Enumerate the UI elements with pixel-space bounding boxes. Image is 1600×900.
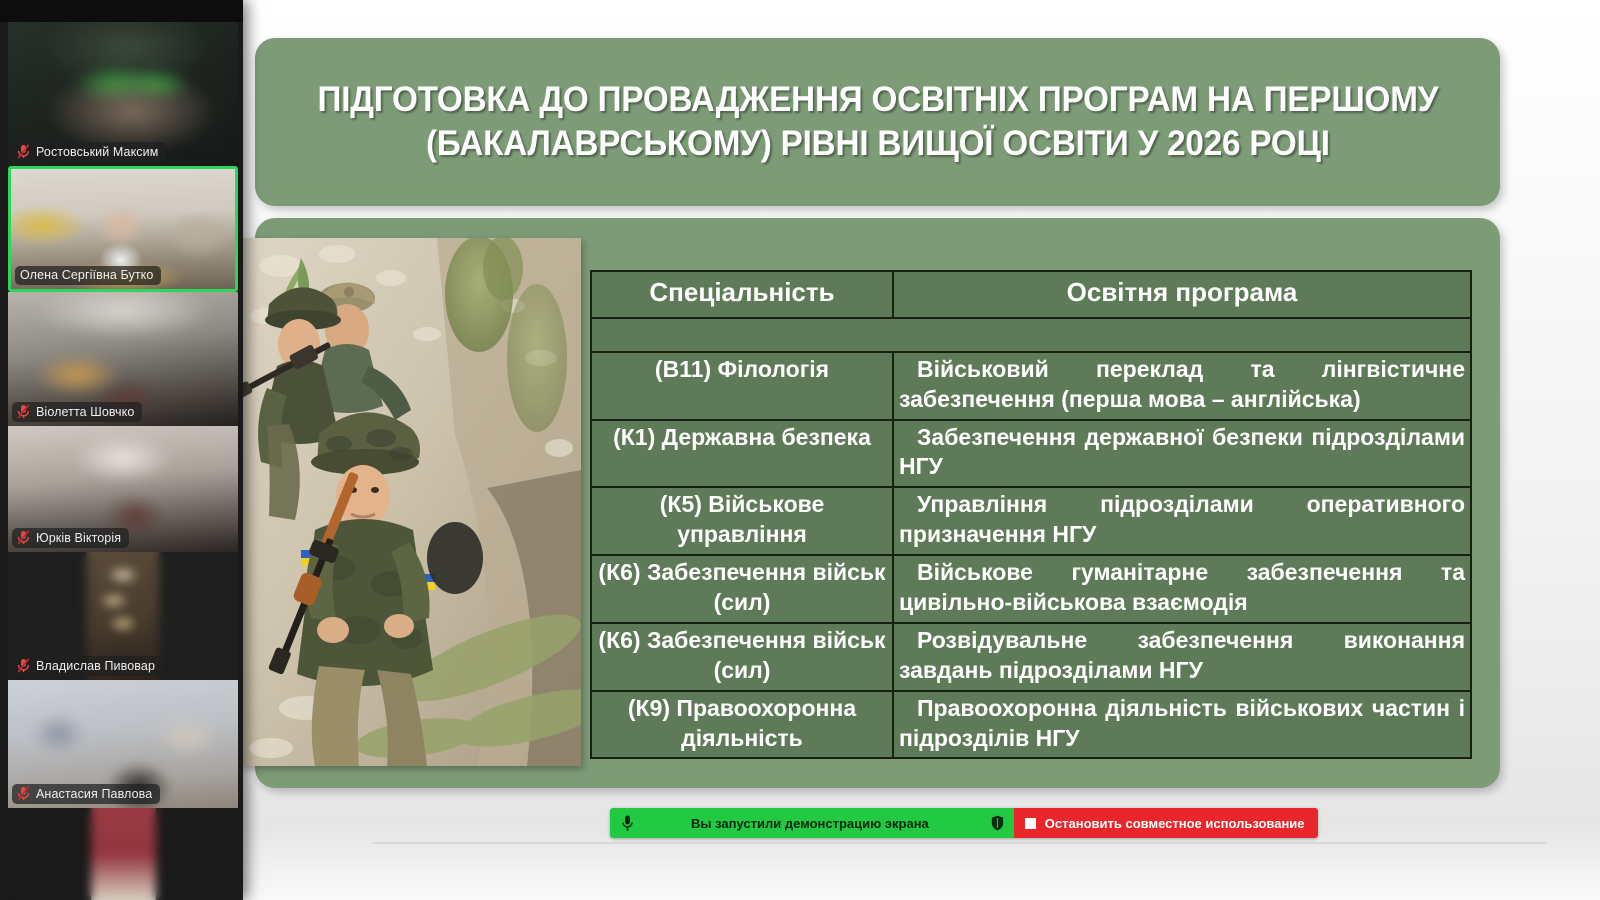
shield-icon[interactable]: [991, 815, 1004, 831]
table-row: (К6) Забезпечення військ (сил) Військове…: [591, 555, 1471, 623]
table-row: (К6) Забезпечення військ (сил) Розвідува…: [591, 623, 1471, 691]
stop-sharing-label: Остановить совместное использование: [1045, 816, 1305, 831]
video-blur-overlay: [8, 808, 238, 900]
page-title: ПІДГОТОВКА ДО ПРОВАДЖЕННЯ ОСВІТНІХ ПРОГР…: [317, 78, 1438, 166]
column-header-specialty: Спеціальність: [591, 271, 893, 318]
participant-name: Віолетта Шовчко: [36, 405, 134, 419]
participant-tile-cropped[interactable]: [8, 808, 238, 900]
programs-table-container: Спеціальність Освітня програма (В11) Філ…: [590, 270, 1470, 759]
soldiers-in-trench-photo: [241, 238, 581, 766]
table-row: (К1) Державна безпека Забезпечення держа…: [591, 420, 1471, 488]
participant-tile[interactable]: Анастасия Павлова: [8, 680, 238, 808]
sidebar-top-padding: [0, 0, 243, 22]
microphone-icon: [622, 815, 633, 832]
stop-sharing-button[interactable]: Остановить совместное использование: [1014, 808, 1318, 838]
cell-program: Управління підрозділами оперативного при…: [893, 487, 1471, 555]
cell-specialty: (К6) Забезпечення військ (сил): [591, 623, 893, 691]
cell-specialty: (К5) Військове управління: [591, 487, 893, 555]
sharing-status-group[interactable]: Вы запустили демонстрацию экрана: [610, 808, 1014, 838]
cell-specialty: (К6) Забезпечення військ (сил): [591, 555, 893, 623]
participant-tile[interactable]: Юрків Вікторія: [8, 426, 238, 552]
zoom-screen-share-window: ПІДГОТОВКА ДО ПРОВАДЖЕННЯ ОСВІТНІХ ПРОГР…: [0, 0, 1600, 900]
table-header-row: Спеціальність Освітня програма: [591, 271, 1471, 318]
participant-name: Владислав Пивовар: [36, 659, 155, 673]
participant-tile[interactable]: Владислав Пивовар: [8, 552, 238, 680]
cell-program: Розвідувальне забезпечення виконання зав…: [893, 623, 1471, 691]
slide-title-panel: ПІДГОТОВКА ДО ПРОВАДЖЕННЯ ОСВІТНІХ ПРОГР…: [255, 38, 1500, 206]
cell-program: Забезпечення державної безпеки підрозділ…: [893, 420, 1471, 488]
participant-name-chip: Владислав Пивовар: [12, 656, 163, 676]
cell-specialty: (В11) Філологія: [591, 352, 893, 420]
participant-name-chip: Юрків Вікторія: [12, 528, 129, 548]
mic-muted-icon: [17, 530, 30, 545]
participant-tile[interactable]: Ростовський Максим: [8, 22, 238, 166]
participant-tile-active-speaker[interactable]: Олена Сергіївна Бутко: [8, 166, 238, 292]
participant-name-chip: Анастасия Павлова: [12, 784, 160, 804]
table-spacer-cell: [591, 318, 1471, 352]
slide-bottom-divider: [372, 842, 1547, 844]
participant-name: Ростовський Максим: [36, 145, 158, 159]
cell-program: Правоохоронна діяльність військових част…: [893, 691, 1471, 759]
table-body: (В11) Філологія Військовий переклад та л…: [591, 318, 1471, 759]
table-row: (К9) Правоохоронна діяльність Правоохоро…: [591, 691, 1471, 759]
mic-muted-icon: [17, 404, 30, 419]
cell-specialty: (К9) Правоохоронна діяльність: [591, 691, 893, 759]
column-header-program: Освітня програма: [893, 271, 1471, 318]
participant-tile[interactable]: Віолетта Шовчко: [8, 292, 238, 426]
participant-name-chip: Віолетта Шовчко: [12, 402, 142, 422]
participant-video-sidebar[interactable]: Ростовський Максим Олена Сергіївна Бутко: [0, 0, 243, 900]
mic-muted-icon: [17, 786, 30, 801]
programs-table: Спеціальність Освітня програма (В11) Філ…: [590, 270, 1472, 759]
table-row: (В11) Філологія Військовий переклад та л…: [591, 352, 1471, 420]
cell-program: Військове гуманітарне забезпечення та ци…: [893, 555, 1471, 623]
cell-program: Військовий переклад та лінгвістичне забе…: [893, 352, 1471, 420]
participant-name: Олена Сергіївна Бутко: [20, 268, 153, 282]
cell-specialty: (К1) Державна безпека: [591, 420, 893, 488]
participant-name-chip: Ростовський Максим: [12, 142, 166, 162]
slide-photo: [241, 238, 581, 766]
participant-name: Анастасия Павлова: [36, 787, 152, 801]
mic-muted-icon: [17, 658, 30, 673]
stop-square-icon: [1025, 818, 1036, 829]
sharing-status-label: Вы запустили демонстрацию экрана: [643, 816, 981, 831]
participant-name: Юрків Вікторія: [36, 531, 121, 545]
screen-share-toolbar[interactable]: Вы запустили демонстрацию экрана Останов…: [610, 808, 1318, 838]
mic-muted-icon: [17, 144, 30, 159]
table-spacer-row: [591, 318, 1471, 352]
participant-name-chip: Олена Сергіївна Бутко: [15, 266, 161, 285]
table-row: (К5) Військове управління Управління під…: [591, 487, 1471, 555]
